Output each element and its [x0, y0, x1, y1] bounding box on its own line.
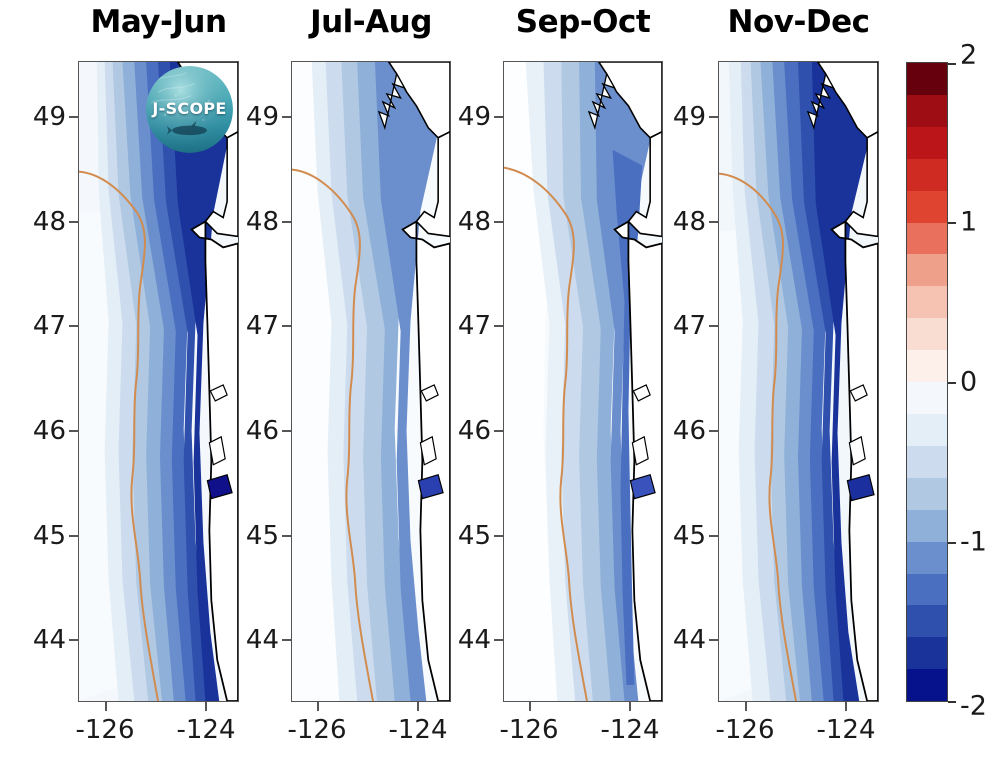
ylabel-p2-45: 45: [235, 521, 279, 551]
ylabel-p3-45: 45: [447, 521, 491, 551]
ytick-p1-44: [69, 639, 78, 641]
ytick-p4-49: [709, 116, 718, 118]
map-canvas-sep-oct: [504, 62, 662, 701]
jscope-logo: J-SCOPE: [146, 66, 233, 153]
colorbar-tick-neg1: [948, 542, 956, 544]
ylabel-p4-45: 45: [662, 521, 706, 551]
ylabel-p3-48: 48: [447, 207, 491, 237]
xlabel-p2-124: -124: [368, 715, 468, 745]
ylabel-p4-46: 46: [662, 416, 706, 446]
colorbar-tick-0: [948, 382, 956, 384]
map-panel-may-jun: [78, 61, 239, 702]
colorbar: [906, 62, 948, 702]
xlabel-p1-124: -124: [156, 715, 256, 745]
colorbar-band-5: [907, 223, 947, 255]
ylabel-p1-47: 47: [22, 311, 66, 341]
xlabel-p2-126: -126: [267, 715, 367, 745]
ytick-p1-46: [69, 430, 78, 432]
map-field-sep-oct: [504, 62, 662, 701]
colorbar-band-1: [907, 95, 947, 127]
colorbar-band-6: [907, 254, 947, 286]
ylabel-p2-47: 47: [235, 311, 279, 341]
jscope-logo-graphic: [146, 66, 233, 153]
xlabel-p1-126: -126: [55, 715, 155, 745]
map-field-jul-aug: [292, 62, 450, 701]
colorbar-band-19: [907, 669, 947, 701]
ylabel-p2-48: 48: [235, 207, 279, 237]
ylabel-p3-46: 46: [447, 416, 491, 446]
ytick-p3-49: [494, 116, 503, 118]
ylabel-p4-47: 47: [662, 311, 706, 341]
colorbar-label-neg1: -1: [960, 527, 987, 558]
ytick-p2-47: [282, 325, 291, 327]
colorbar-band-14: [907, 510, 947, 542]
xtick-p3-126: [529, 702, 531, 711]
map-canvas-nov-dec: [719, 62, 878, 701]
colorbar-band-15: [907, 542, 947, 574]
ytick-p3-44: [494, 639, 503, 641]
colorbar-tick-neg2: [948, 701, 956, 703]
ylabel-p3-49: 49: [447, 102, 491, 132]
xlabel-p3-126: -126: [479, 715, 579, 745]
ytick-p2-48: [282, 221, 291, 223]
ytick-p1-47: [69, 325, 78, 327]
colorbar-band-17: [907, 605, 947, 637]
ytick-p3-47: [494, 325, 503, 327]
colorbar-label-neg2: -2: [960, 691, 987, 722]
xtick-p2-126: [317, 702, 319, 711]
map-field-nov-dec: [719, 62, 878, 701]
ytick-p4-46: [709, 430, 718, 432]
ytick-p4-44: [709, 639, 718, 641]
ytick-p3-46: [494, 430, 503, 432]
ytick-p3-45: [494, 535, 503, 537]
ylabel-p4-44: 44: [662, 625, 706, 655]
colorbar-band-9: [907, 350, 947, 382]
ylabel-p1-44: 44: [22, 625, 66, 655]
colorbar-band-10: [907, 382, 947, 414]
xtick-p1-124: [205, 702, 207, 711]
colorbar-band-4: [907, 191, 947, 223]
colorbar-band-12: [907, 446, 947, 478]
xtick-p1-126: [105, 702, 107, 711]
xlabel-p4-124: -124: [796, 715, 896, 745]
colorbar-band-16: [907, 574, 947, 606]
colorbar-band-2: [907, 127, 947, 159]
ylabel-p1-48: 48: [22, 207, 66, 237]
panel-title-jul-aug: Jul-Aug: [291, 4, 451, 40]
map-canvas-may-jun: [79, 62, 238, 701]
map-panel-jul-aug: [291, 61, 451, 702]
colorbar-band-8: [907, 318, 947, 350]
panel-title-may-jun: May-Jun: [78, 4, 239, 40]
xtick-p3-124: [629, 702, 631, 711]
colorbar-label-0: 0: [960, 367, 977, 398]
ylabel-p4-49: 49: [662, 102, 706, 132]
ytick-p2-45: [282, 535, 291, 537]
map-canvas-jul-aug: [292, 62, 450, 701]
ylabel-p2-44: 44: [235, 625, 279, 655]
map-field-may-jun: [79, 62, 238, 701]
colorbar-band-3: [907, 159, 947, 191]
colorbar-label-1: 1: [960, 207, 977, 238]
ylabel-p3-44: 44: [447, 625, 491, 655]
xtick-p4-126: [745, 702, 747, 711]
colorbar-band-11: [907, 414, 947, 446]
map-panel-nov-dec: [718, 61, 879, 702]
ylabel-p1-49: 49: [22, 102, 66, 132]
ytick-p2-49: [282, 116, 291, 118]
ytick-p4-48: [709, 221, 718, 223]
map-panel-sep-oct: [503, 61, 663, 702]
colorbar-band-18: [907, 637, 947, 669]
colorbar-tick-1: [948, 222, 956, 224]
ylabel-p4-48: 48: [662, 207, 706, 237]
colorbar-label-2: 2: [960, 40, 977, 71]
ylabel-p1-45: 45: [22, 521, 66, 551]
ytick-p1-45: [69, 535, 78, 537]
ytick-p3-48: [494, 221, 503, 223]
figure-canvas: May-Jun Jul-Aug Sep-Oct Nov-Dec: [0, 0, 1000, 774]
ylabel-p2-49: 49: [235, 102, 279, 132]
xlabel-p4-126: -126: [695, 715, 795, 745]
colorbar-band-13: [907, 478, 947, 510]
ylabel-p1-46: 46: [22, 416, 66, 446]
xtick-p2-124: [417, 702, 419, 711]
colorbar-band-0: [907, 63, 947, 95]
panel-title-sep-oct: Sep-Oct: [503, 4, 663, 40]
ylabel-p3-47: 47: [447, 311, 491, 341]
ytick-p4-45: [709, 535, 718, 537]
ytick-p4-47: [709, 325, 718, 327]
ytick-p2-44: [282, 639, 291, 641]
xtick-p4-124: [845, 702, 847, 711]
ytick-p1-49: [69, 116, 78, 118]
panel-title-nov-dec: Nov-Dec: [718, 4, 879, 40]
colorbar-band-7: [907, 286, 947, 318]
xlabel-p3-124: -124: [580, 715, 680, 745]
ytick-p1-48: [69, 221, 78, 223]
ylabel-p2-46: 46: [235, 416, 279, 446]
colorbar-tick-2: [948, 63, 956, 65]
ytick-p2-46: [282, 430, 291, 432]
